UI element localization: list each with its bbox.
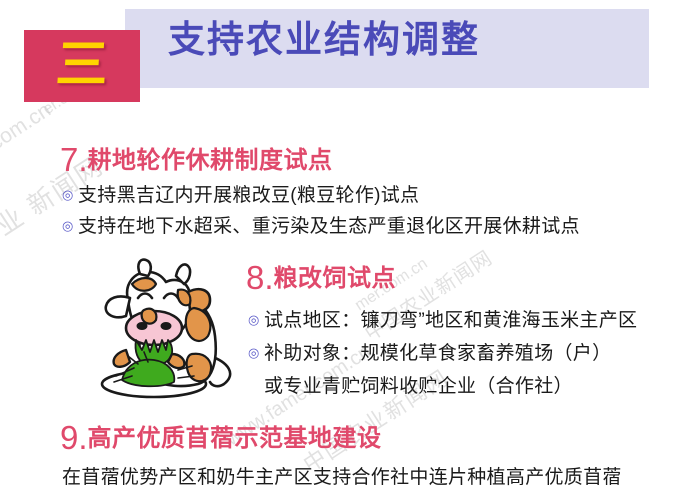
bullet-item: ◎补助对象：规模化草食家畜养殖场（户）: [248, 338, 611, 365]
bullet-item-label: 支持在地下水超采、重污染及生态严重退化区开展休耕试点: [78, 216, 580, 237]
bullet-item-label: 支持黑吉辽内开展粮改豆(粮豆轮作)试点: [78, 185, 419, 206]
section-heading-7: 7.耕地轮作休耕制度试点: [60, 140, 333, 179]
cow-eating-grass-illustration: [82, 258, 252, 403]
section-heading-9: 9.高产优质苜蓿示范基地建设: [60, 418, 382, 457]
bullet-item-label: 或专业青贮饲料收贮企业（合作社）: [264, 376, 573, 397]
section-heading-7-title: 耕地轮作休耕制度试点: [88, 147, 333, 174]
section-heading-9-title: 高产优质苜蓿示范基地建设: [88, 425, 382, 452]
section-9-body-label: 在苜蓿优势产区和奶牛主产区支持合作社中连片种植高产优质苜蓿: [62, 467, 622, 488]
bullet-marker-icon: ◎: [62, 218, 78, 234]
content-area: 7.耕地轮作休耕制度试点 ◎支持黑吉辽内开展粮改豆(粮豆轮作)试点 ◎支持在地下…: [0, 0, 684, 502]
section-heading-8-title: 粮改饲试点: [274, 265, 397, 292]
section-9-body-text: 在苜蓿优势产区和奶牛主产区支持合作社中连片种植高产优质苜蓿: [62, 462, 622, 489]
bullet-item-label: 补助对象：规模化草食家畜养殖场（户）: [264, 343, 611, 364]
bullet-marker-icon: ◎: [62, 187, 78, 203]
slide-canvas: er.com.cn 业 新闻网 mer.com.cn 中国农业新闻网 www.f…: [0, 0, 684, 502]
section-heading-8: 8.粮改饲试点: [246, 258, 396, 297]
bullet-item: ◎支持在地下水超采、重污染及生态严重退化区开展休耕试点: [62, 211, 580, 238]
bullet-item-label: 试点地区：镰刀弯”地区和黄淮海玉米主产区: [264, 310, 637, 331]
bullet-item: ◎支持黑吉辽内开展粮改豆(粮豆轮作)试点: [62, 180, 419, 207]
bullet-item: ◎试点地区：镰刀弯”地区和黄淮海玉米主产区: [248, 305, 637, 332]
bullet-item-continuation: ◎或专业青贮饲料收贮企业（合作社）: [248, 371, 573, 398]
section-heading-9-number: 9.: [60, 419, 88, 456]
section-heading-7-number: 7.: [60, 141, 88, 178]
